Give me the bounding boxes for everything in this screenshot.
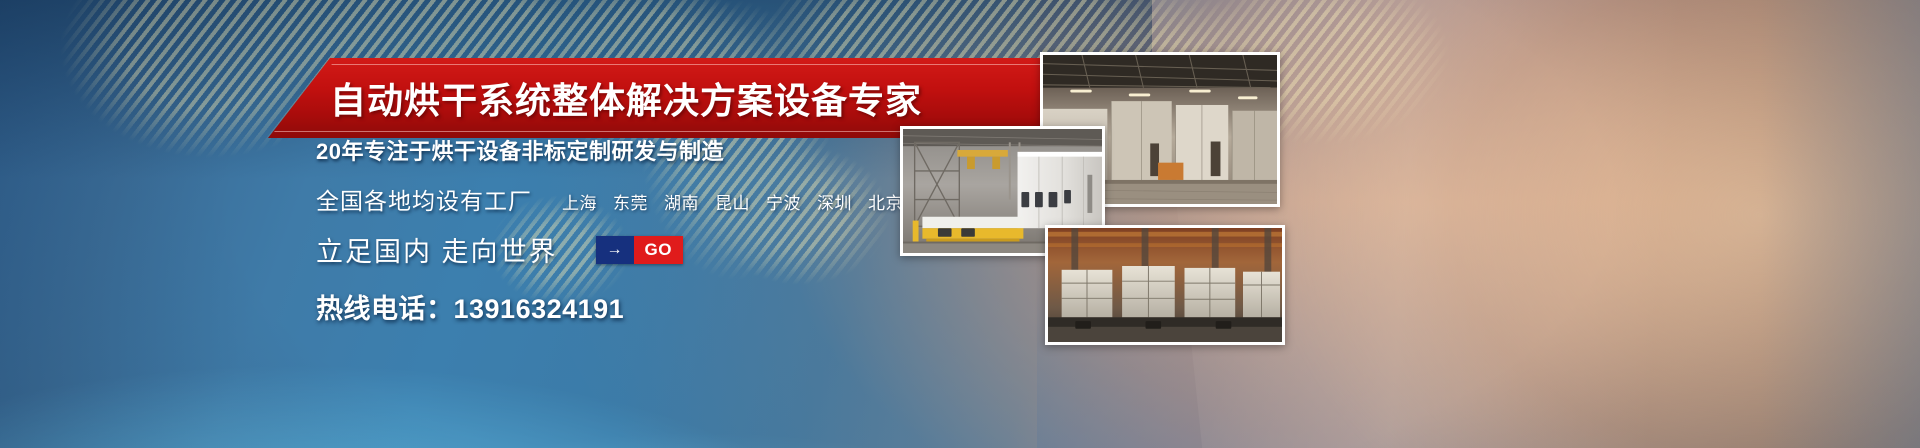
city-item-kunshan[interactable]: 昆山	[715, 189, 750, 214]
hotline-text: 热线电话：13916324191	[316, 287, 1016, 326]
arrow-right-icon: →	[596, 236, 634, 264]
promo-banner: 自动烘干系统整体解决方案设备专家 20年专注于烘干设备非标定制研发与制造 全国各…	[0, 0, 1920, 448]
city-item-ningbo[interactable]: 宁波	[766, 189, 801, 214]
right-edge-fade	[1760, 0, 1920, 448]
equipment-frames-illustration	[1048, 228, 1282, 342]
city-item-hunan[interactable]: 湖南	[664, 189, 699, 214]
city-item-shanghai[interactable]: 上海	[562, 189, 597, 214]
go-button[interactable]: → GO	[596, 236, 683, 264]
city-item-beijing[interactable]: 北京	[868, 189, 903, 214]
city-item-dongguan[interactable]: 东莞	[613, 189, 648, 214]
go-button-label: GO	[634, 236, 683, 264]
city-item-shenzhen[interactable]: 深圳	[817, 189, 852, 214]
slogan-text: 立足国内 走向世界	[316, 230, 558, 269]
city-list: 上海 东莞 湖南 昆山 宁波 深圳 北京 天津	[562, 189, 954, 214]
factories-label: 全国各地均设有工厂	[316, 182, 532, 216]
photo-drying-equipment-frames	[1045, 225, 1285, 345]
